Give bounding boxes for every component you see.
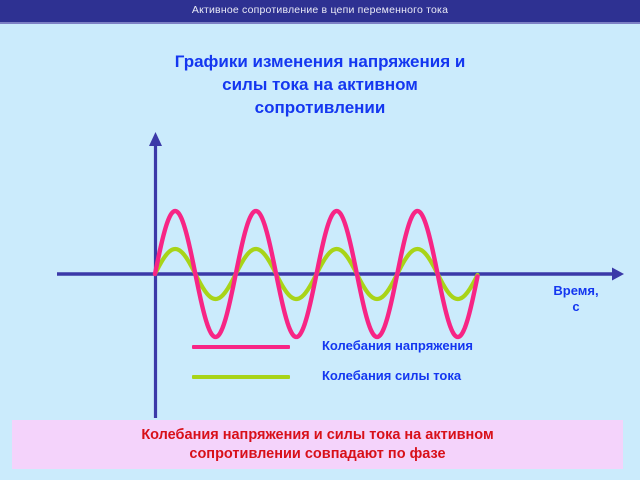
legend-swatch-voltage xyxy=(192,345,290,349)
conclusion-banner: Колебания напряжения и силы тока на акти… xyxy=(12,420,623,469)
legend-label-current: Колебания силы тока xyxy=(322,368,461,383)
x-axis-label-line-2: с xyxy=(528,299,624,315)
conclusion-line-1: Колебания напряжения и силы тока на акти… xyxy=(12,426,623,445)
waveform-chart xyxy=(0,0,640,480)
legend-swatch-current xyxy=(192,375,290,379)
legend-item-current: Колебания силы тока xyxy=(190,368,590,398)
x-axis xyxy=(57,268,624,281)
conclusion-text: Колебания напряжения и силы тока на акти… xyxy=(12,426,623,464)
x-axis-label-line-1: Время, xyxy=(528,283,624,299)
chart-legend: Колебания напряжения Колебания силы тока xyxy=(190,338,590,398)
legend-label-voltage: Колебания напряжения xyxy=(322,338,473,353)
conclusion-line-2: сопротивлении совпадают по фазе xyxy=(12,445,623,464)
x-axis-label: Время, с xyxy=(528,283,624,315)
slide-canvas: Активное сопротивление в цепи переменног… xyxy=(0,0,640,480)
legend-item-voltage: Колебания напряжения xyxy=(190,338,590,368)
